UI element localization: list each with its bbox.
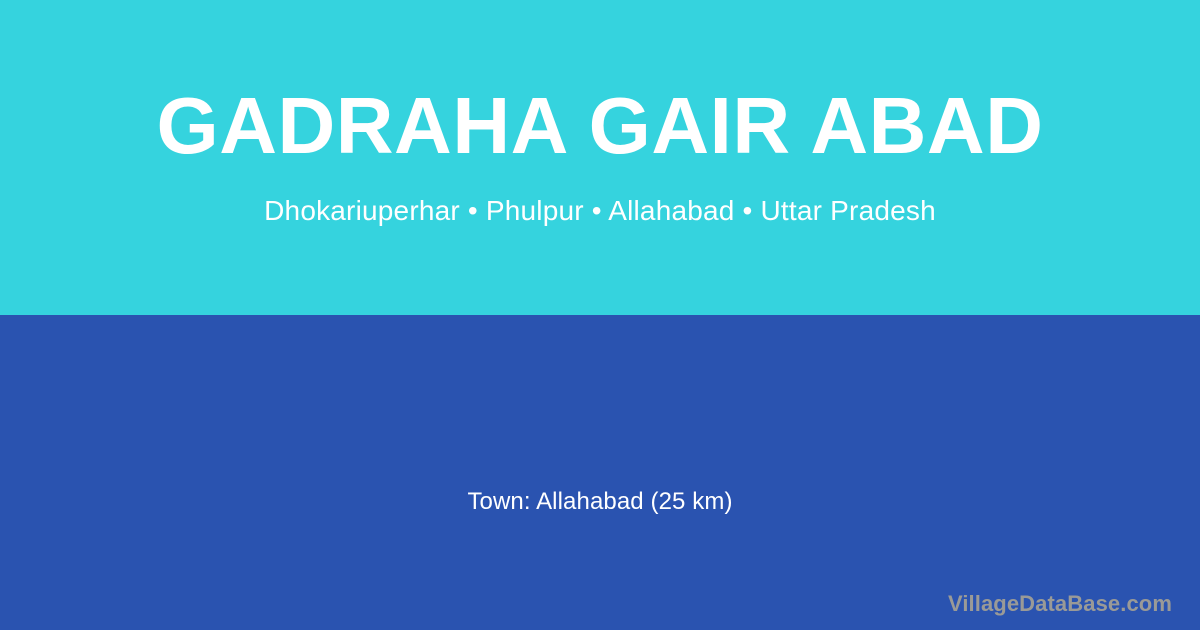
site-watermark: VillageDataBase.com	[948, 591, 1172, 617]
breadcrumb: Dhokariuperhar • Phulpur • Allahabad • U…	[0, 194, 1200, 228]
page-title: GADRAHA GAIR ABAD	[0, 86, 1200, 166]
village-info-card: GADRAHA GAIR ABAD Dhokariuperhar • Phulp…	[0, 0, 1200, 630]
details-band: Town: Allahabad (25 km) VillageDataBase.…	[0, 315, 1200, 630]
nearest-town-text: Town: Allahabad (25 km)	[0, 315, 1200, 630]
hero-banner: GADRAHA GAIR ABAD Dhokariuperhar • Phulp…	[0, 0, 1200, 315]
